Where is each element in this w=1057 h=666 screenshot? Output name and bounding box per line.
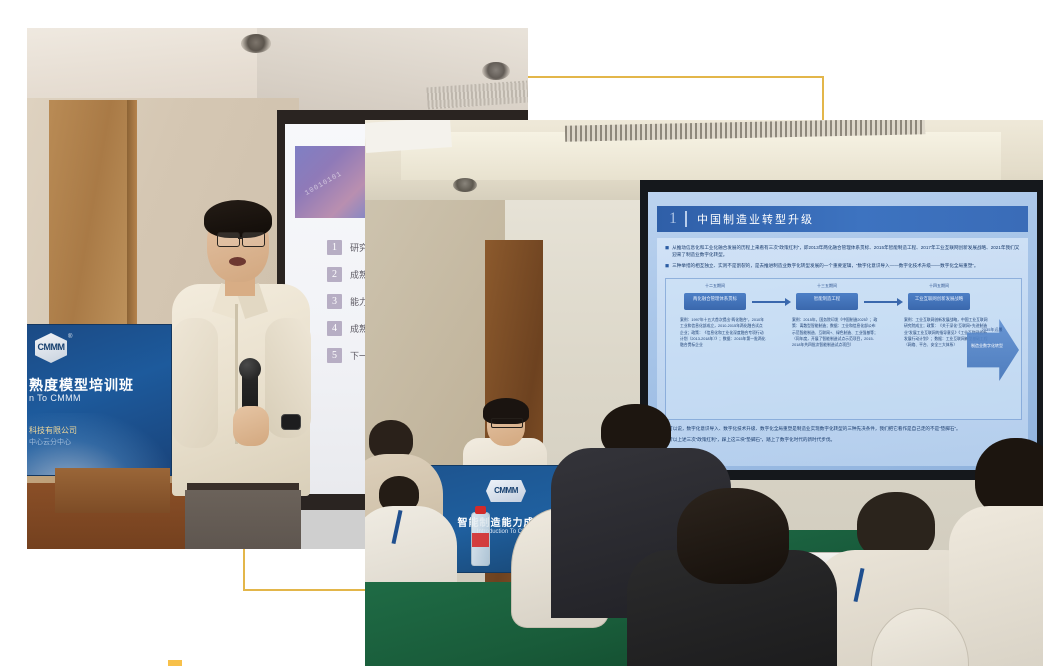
flow-target-period: 2035年远景 — [969, 327, 1015, 333]
bullet-marker-icon: ◼ — [665, 244, 669, 259]
agenda-number: 4 — [327, 321, 342, 336]
speaker-hand — [233, 406, 269, 446]
water-bottle — [471, 512, 490, 566]
agenda-number: 1 — [327, 240, 342, 255]
ceiling-downlight-icon — [482, 62, 510, 80]
flow-stage-node: 智能制造工程 — [796, 293, 858, 310]
banner-org-line-1: 科技有限公司 — [29, 425, 179, 436]
logo-text: CMMM — [35, 342, 67, 352]
flow-stage-node: 工业互联网创新发展战略 — [908, 293, 970, 310]
photo-classroom-audience: 1 中国制造业转型升级 ◼ 从推动信息化和工业化融合发展的历程上来看有三次“政策… — [365, 120, 1043, 666]
flow-stage-detail: 案例：1997年十五大首次提出“两化融合”，2010年工业和信息化部成立，201… — [680, 317, 766, 348]
slide-footer-text: 所以上述三次“政策红利”，踩上这三块“垫脚石”，踏上了数字化时代的新时代步伐。 — [668, 436, 835, 444]
speaker-trousers — [185, 490, 301, 549]
collage-canvas: 10010101 01010010 1 研究 2 成熟 3 能力 4 成熟 — [0, 0, 1057, 666]
flow-stage-period: 十四五期间 — [908, 283, 970, 289]
bullet-marker-icon: ◼ — [665, 262, 669, 270]
slide-thumbnail-1: 10010101 — [295, 146, 375, 218]
flow-stage-period: 十二五期间 — [684, 283, 746, 289]
slide-header-divider — [685, 211, 687, 227]
eyeglasses-lens-right — [242, 232, 265, 247]
slide-bullet-text: 三种举措的相互独立、实则不是割裂的，是去推进制造业数字化转型发展的一个重要逻辑，… — [672, 262, 978, 270]
agenda-number: 3 — [327, 294, 342, 309]
slide-footer-text: 可以说，数字化意识导入、数字化技术升级、数字化全局重塑是制造业实现数字化转型的三… — [668, 425, 960, 433]
flow-arrow-icon — [752, 301, 786, 303]
speaker-arm-left — [172, 318, 218, 448]
attendee-hair — [975, 438, 1043, 516]
slide-section-number: 1 — [669, 210, 677, 228]
ceiling-recess — [401, 132, 1001, 180]
flow-stage-period: 十三五期间 — [796, 283, 858, 289]
agenda-number: 2 — [327, 267, 342, 282]
cmmm-logo-icon: CMMM ® — [35, 333, 69, 365]
banner-subtitle: n To CMMM — [29, 393, 179, 403]
slide-header: 1 中国制造业转型升级 — [657, 206, 1028, 232]
eyeglasses-icon — [491, 418, 523, 428]
attendee-hair — [677, 488, 789, 584]
banner-org-line-2: 中心云分中心 — [29, 437, 179, 447]
event-banner: CMMM ® 熟度模型培训班 n To CMMM 科技有限公司 中心云分中心 — [27, 324, 172, 476]
slide-footer-bullet: ◼ 所以上述三次“政策红利”，踩上这三块“垫脚石”，踏上了数字化时代的新时代步伐… — [661, 436, 1025, 444]
slide-footer-bullet: ◼ 可以说，数字化意识导入、数字化技术升级、数字化全局重塑是制造业实现数字化转型… — [661, 425, 1025, 433]
registered-mark-icon: ® — [68, 334, 72, 340]
slide-title: 中国制造业转型升级 — [697, 211, 814, 227]
flow-target-node: 制造业数字化转型 — [967, 343, 1007, 349]
slide-bullet-text: 从推动信息化和工业化融合发展的历程上来看有三次“政策红利”，即2013年两化融合… — [672, 244, 1020, 259]
binary-overlay-text: 10010101 — [304, 170, 344, 198]
ceiling-downlight-icon — [453, 178, 477, 192]
slide-bullet: ◼ 从推动信息化和工业化融合发展的历程上来看有三次“政策红利”，即2013年两化… — [665, 244, 1020, 259]
flow-stage-detail: 案例：2015年，国务院印发《中国制造2025》；政策：离散型智能制造；数据：工… — [792, 317, 878, 348]
wristwatch-icon — [281, 414, 301, 430]
ceiling-downlight-icon — [241, 34, 271, 53]
eyeglasses-bridge — [238, 237, 243, 239]
microphone-icon — [239, 358, 261, 380]
speaker-mouth — [229, 257, 246, 266]
banner-stand-base — [55, 468, 170, 513]
gold-accent-chip — [168, 660, 182, 666]
logo-text: CMMM — [486, 486, 526, 495]
slide-flow-diagram: 十二五期间 两化融合管理体系贯标 十三五期间 智能制造工程 十四五期间 工业互联… — [665, 278, 1022, 420]
slide-footer: ◼ 可以说，数字化意识导入、数字化技术升级、数字化全局重塑是制造业实现数字化转型… — [661, 425, 1025, 447]
flow-stage-node: 两化融合管理体系贯标 — [684, 293, 746, 310]
agenda-number: 5 — [327, 348, 342, 363]
banner-title: 熟度模型培训班 — [29, 375, 179, 395]
flow-arrow-icon — [864, 301, 898, 303]
eyeglasses-lens-left — [217, 232, 240, 247]
slide-bullet: ◼ 三种举措的相互独立、实则不是割裂的，是去推进制造业数字化转型发展的一个重要逻… — [665, 262, 1020, 270]
